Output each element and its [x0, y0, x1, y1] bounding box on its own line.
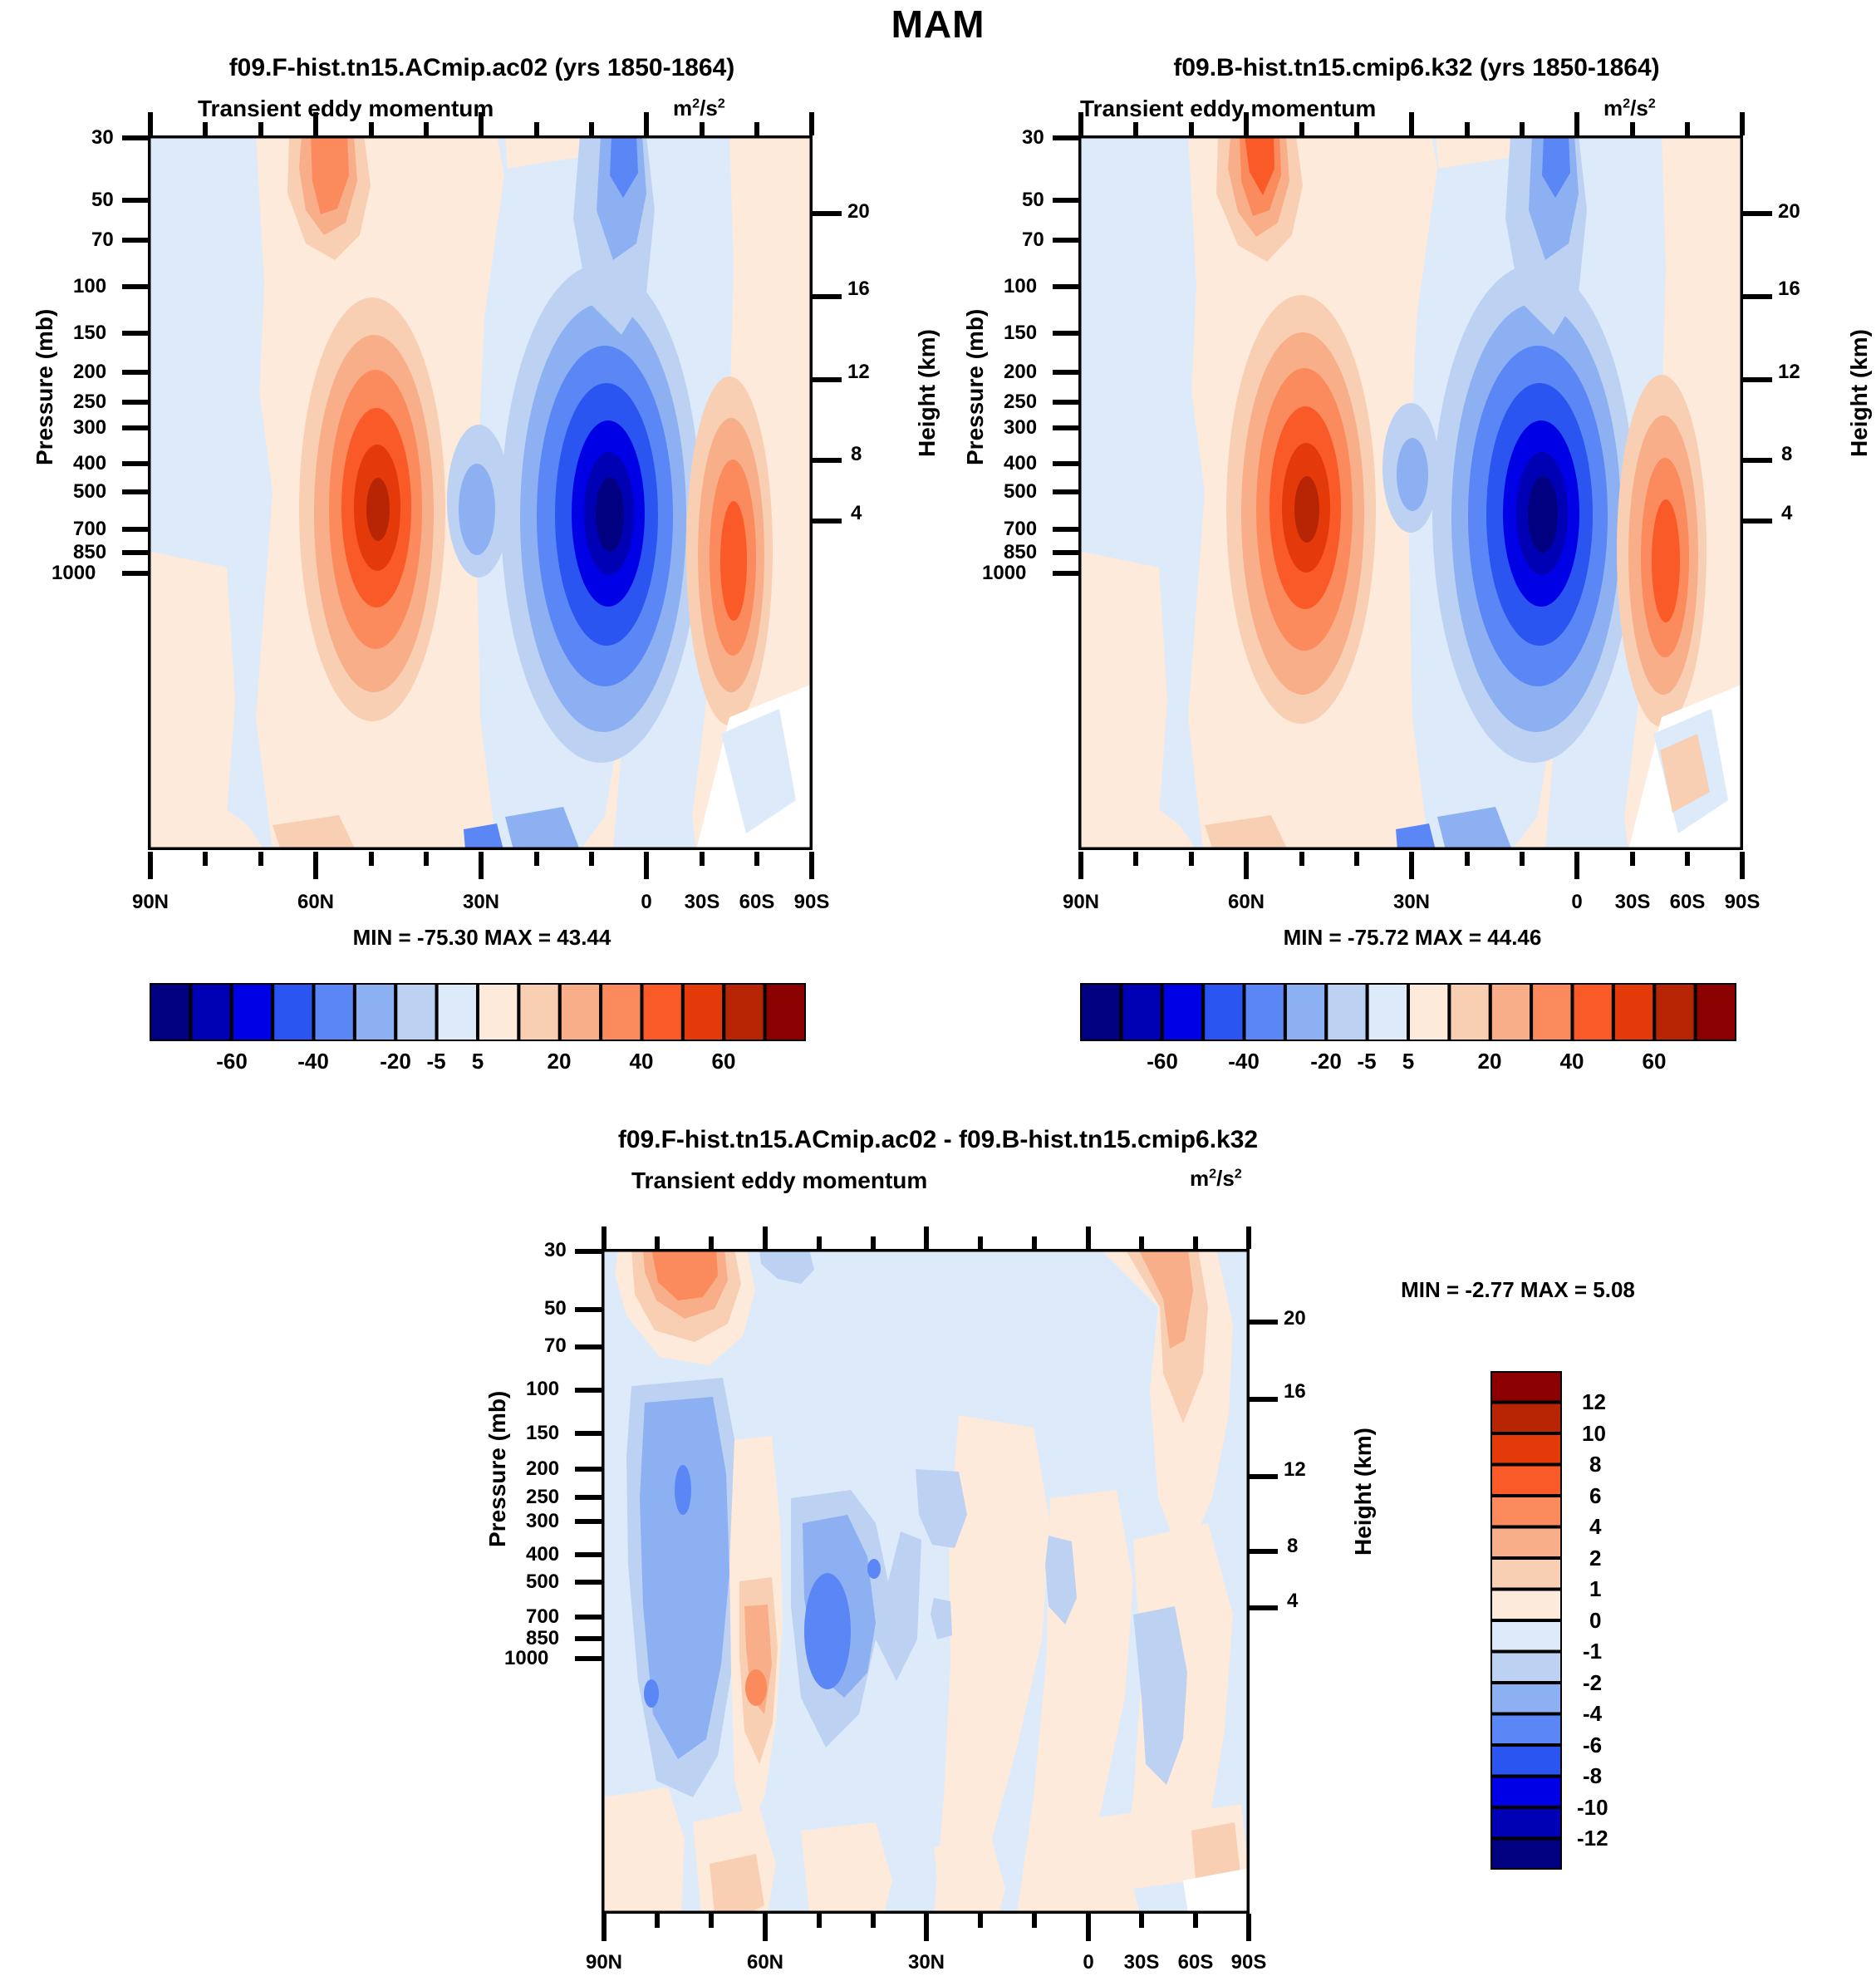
pressure-tick-label: 1000 [982, 562, 1026, 585]
panel-top-left-title: f09.F-hist.tn15.ACmip.ac02 (yrs 1850-186… [229, 54, 735, 82]
panel-top-left-bottom-ticks [148, 849, 814, 882]
units-sup-1: 2 [692, 96, 700, 111]
colorbar-tick-label: -10 [1577, 1795, 1608, 1821]
colorbar-tick-label: 0 [1589, 1608, 1601, 1634]
pressure-tick-label: 30 [544, 1239, 567, 1262]
colorbar-tick-label: 20 [1478, 1049, 1502, 1074]
pressure-tick-label: 500 [526, 1571, 559, 1594]
pressure-tick-label: 70 [1022, 229, 1044, 252]
pressure-tick-label: 150 [526, 1422, 559, 1445]
panel-top-left-svg[interactable] [148, 135, 813, 850]
pressure-tick-label: 850 [1004, 541, 1037, 564]
units-sup-1: 2 [1209, 1166, 1216, 1181]
units-sup-1: 2 [1623, 96, 1630, 111]
pressure-tick-label: 30 [91, 126, 114, 150]
colorbar-tick-label: 10 [1582, 1421, 1606, 1447]
panel-top-right-y-axis-title: Pressure (mb) [962, 309, 989, 465]
panel-diff-height-ticks-svg [1246, 1249, 1288, 1915]
panel-top-right-title: f09.B-hist.tn15.cmip6.k32 (yrs 1850-1864… [1173, 54, 1659, 82]
colorbar-tick-label: 8 [1589, 1452, 1601, 1477]
colorbar-tick-label: 40 [1560, 1049, 1584, 1074]
colorbar-tick-label: 6 [1589, 1483, 1601, 1509]
lat-tick-label: 0 [1571, 891, 1582, 914]
lat-tick-label: 30N [463, 891, 499, 914]
pressure-tick-label: 70 [544, 1335, 567, 1358]
pressure-tick-label: 1000 [52, 562, 96, 585]
pressure-tick-label: 300 [1004, 416, 1037, 440]
colorbar-tick-label: 40 [630, 1049, 654, 1074]
panel-top-left-plot[interactable] [148, 135, 813, 850]
lat-tick-label: 90N [586, 1951, 622, 1974]
panel-diff-y-axis-title: Pressure (mb) [484, 1391, 511, 1547]
pressure-tick-label: 150 [1004, 322, 1037, 345]
colorbar-tick-label: 60 [1643, 1049, 1667, 1074]
pressure-tick-label: 1000 [504, 1647, 548, 1670]
panel-top-right-pressure-ticks-svg [1051, 135, 1084, 852]
colorbar-main-right-svg[interactable] [1080, 983, 1736, 1041]
colorbar-swatches [1080, 983, 1736, 1041]
colorbar-main-left[interactable] [150, 983, 806, 1041]
panel-diff-top-ticks [602, 1225, 1251, 1252]
colorbar-tick-label: 1 [1589, 1576, 1601, 1602]
colorbar-tick-label: -40 [297, 1049, 329, 1074]
panel-top-left-minmax: MIN = -75.30 MAX = 43.44 [353, 925, 611, 951]
panel-top-left-height-ticks-svg [810, 135, 852, 852]
colorbar-tick-label: 5 [472, 1049, 484, 1074]
pressure-tick-label: 500 [73, 480, 106, 504]
colorbar-main-left-svg[interactable] [150, 983, 806, 1041]
lat-tick-label: 0 [1083, 1951, 1093, 1974]
colorbar-tick-label: 60 [712, 1049, 736, 1074]
pressure-tick-label: 30 [1022, 126, 1044, 150]
contour-field [602, 1249, 1250, 1914]
colorbar-diff-svg[interactable] [1490, 1371, 1562, 1870]
lat-tick-label: 60S [1670, 891, 1706, 914]
lat-tick-label: 90N [132, 891, 169, 914]
colorbar-tick-label: 4 [1589, 1514, 1601, 1540]
pressure-tick-label: 200 [1004, 361, 1037, 384]
height-tick-label: 8 [851, 443, 862, 466]
pressure-tick-label: 250 [526, 1486, 559, 1509]
pressure-tick-label: 50 [544, 1297, 567, 1320]
panel-top-right-plot[interactable] [1078, 135, 1743, 850]
pressure-tick-label: 300 [526, 1510, 559, 1533]
pressure-tick-label: 100 [1004, 275, 1037, 298]
lat-tick-label: 60N [297, 891, 334, 914]
contour-field [148, 135, 813, 850]
lat-tick-label: 90N [1063, 891, 1099, 914]
panel-diff-svg[interactable] [602, 1249, 1250, 1914]
colorbar-tick-label: -5 [426, 1049, 445, 1074]
lat-tick-label: 30S [685, 891, 720, 914]
pressure-tick-label: 150 [73, 322, 106, 345]
height-tick-label: 4 [1781, 502, 1792, 525]
panel-diff-minmax: MIN = -2.77 MAX = 5.08 [1401, 1277, 1635, 1303]
colorbar-tick-label: -2 [1583, 1670, 1602, 1696]
page-title: MAM [891, 2, 985, 47]
units-text-mid: /s [1216, 1166, 1235, 1191]
colorbar-tick-label: -20 [380, 1049, 411, 1074]
lat-tick-label: 0 [641, 891, 651, 914]
height-tick-label: 8 [1781, 443, 1792, 466]
colorbar-tick-label: 2 [1589, 1546, 1601, 1571]
colorbar-tick-label: -4 [1583, 1701, 1602, 1727]
colorbar-swatches [1490, 1371, 1562, 1870]
colorbar-tick-label: 12 [1582, 1389, 1606, 1415]
panel-diff-variable-title: Transient eddy momentum [631, 1167, 927, 1194]
lat-tick-label: 60S [739, 891, 775, 914]
colorbar-tick-label: -40 [1228, 1049, 1260, 1074]
colorbar-tick-label: -1 [1583, 1639, 1602, 1664]
pressure-tick-label: 100 [526, 1378, 559, 1401]
panel-top-right-height-ticks-svg [1741, 135, 1782, 852]
panel-top-right-top-ticks [1078, 111, 1745, 139]
colorbar-tick-label: -5 [1357, 1049, 1376, 1074]
pressure-tick-label: 250 [1004, 391, 1037, 414]
height-tick-label: 4 [851, 502, 862, 525]
panel-top-left-y-axis-title: Pressure (mb) [32, 309, 58, 465]
pressure-tick-label: 700 [526, 1605, 559, 1629]
pressure-tick-label: 400 [1004, 452, 1037, 475]
pressure-tick-label: 250 [73, 391, 106, 414]
panel-top-right-svg[interactable] [1078, 135, 1743, 850]
panel-top-left-pressure-ticks-svg [120, 135, 154, 852]
height-tick-label: 8 [1287, 1535, 1298, 1558]
panel-top-right-y2-axis-title: Height (km) [1846, 329, 1873, 457]
lat-tick-label: 60S [1178, 1951, 1214, 1974]
lat-tick-label: 30S [1124, 1951, 1160, 1974]
panel-top-left-top-ticks [148, 111, 814, 139]
lat-tick-label: 90S [1231, 1951, 1267, 1974]
pressure-tick-label: 50 [1022, 189, 1044, 212]
pressure-tick-label: 50 [91, 189, 114, 212]
colorbar-tick-label: -60 [216, 1049, 248, 1074]
units-sup-2: 2 [1648, 96, 1656, 111]
lat-tick-label: 90S [1725, 891, 1761, 914]
pressure-tick-label: 200 [526, 1457, 559, 1481]
units-text: m [1190, 1166, 1209, 1191]
panel-diff-pressure-ticks-svg [573, 1249, 607, 1915]
units-sup-2: 2 [718, 96, 725, 111]
colorbar-tick-label: 20 [548, 1049, 572, 1074]
pressure-tick-label: 400 [73, 452, 106, 475]
colorbar-main-right[interactable] [1080, 983, 1736, 1041]
lat-tick-label: 30N [1393, 891, 1430, 914]
lat-tick-label: 30S [1615, 891, 1651, 914]
colorbar-tick-label: 5 [1402, 1049, 1414, 1074]
panel-diff-bottom-ticks [602, 1911, 1251, 1944]
units-sup-2: 2 [1235, 1166, 1242, 1181]
panel-diff-plot[interactable] [602, 1249, 1250, 1914]
panel-top-right-bottom-ticks [1078, 849, 1745, 882]
lat-tick-label: 60N [1228, 891, 1265, 914]
lat-tick-label: 30N [908, 1951, 945, 1974]
colorbar-tick-label: -20 [1310, 1049, 1342, 1074]
colorbar-tick-label: -6 [1583, 1733, 1602, 1758]
colorbar-swatches [150, 983, 806, 1041]
lat-tick-label: 90S [794, 891, 830, 914]
pressure-tick-label: 700 [1004, 518, 1037, 541]
panel-diff-y2-axis-title: Height (km) [1350, 1428, 1377, 1556]
pressure-tick-label: 200 [73, 361, 106, 384]
colorbar-tick-label: -12 [1577, 1826, 1608, 1851]
contour-field [1078, 135, 1743, 850]
height-tick-label: 4 [1287, 1590, 1298, 1613]
colorbar-tick-label: -60 [1147, 1049, 1178, 1074]
panel-diff-units: m2/s2 [1190, 1166, 1242, 1192]
colorbar-tick-label: -8 [1583, 1763, 1602, 1789]
pressure-tick-label: 400 [526, 1543, 559, 1566]
pressure-tick-label: 70 [91, 229, 114, 252]
panel-top-right-minmax: MIN = -75.72 MAX = 44.46 [1284, 925, 1542, 951]
panel-diff-title: f09.F-hist.tn15.ACmip.ac02 - f09.B-hist.… [618, 1126, 1258, 1154]
lat-tick-label: 60N [747, 1951, 783, 1974]
pressure-tick-label: 300 [73, 416, 106, 440]
pressure-tick-label: 100 [73, 275, 106, 298]
colorbar-diff[interactable] [1490, 1371, 1562, 1870]
panel-top-left-y2-axis-title: Height (km) [914, 329, 940, 457]
pressure-tick-label: 850 [73, 541, 106, 564]
pressure-tick-label: 500 [1004, 480, 1037, 504]
pressure-tick-label: 700 [73, 518, 106, 541]
